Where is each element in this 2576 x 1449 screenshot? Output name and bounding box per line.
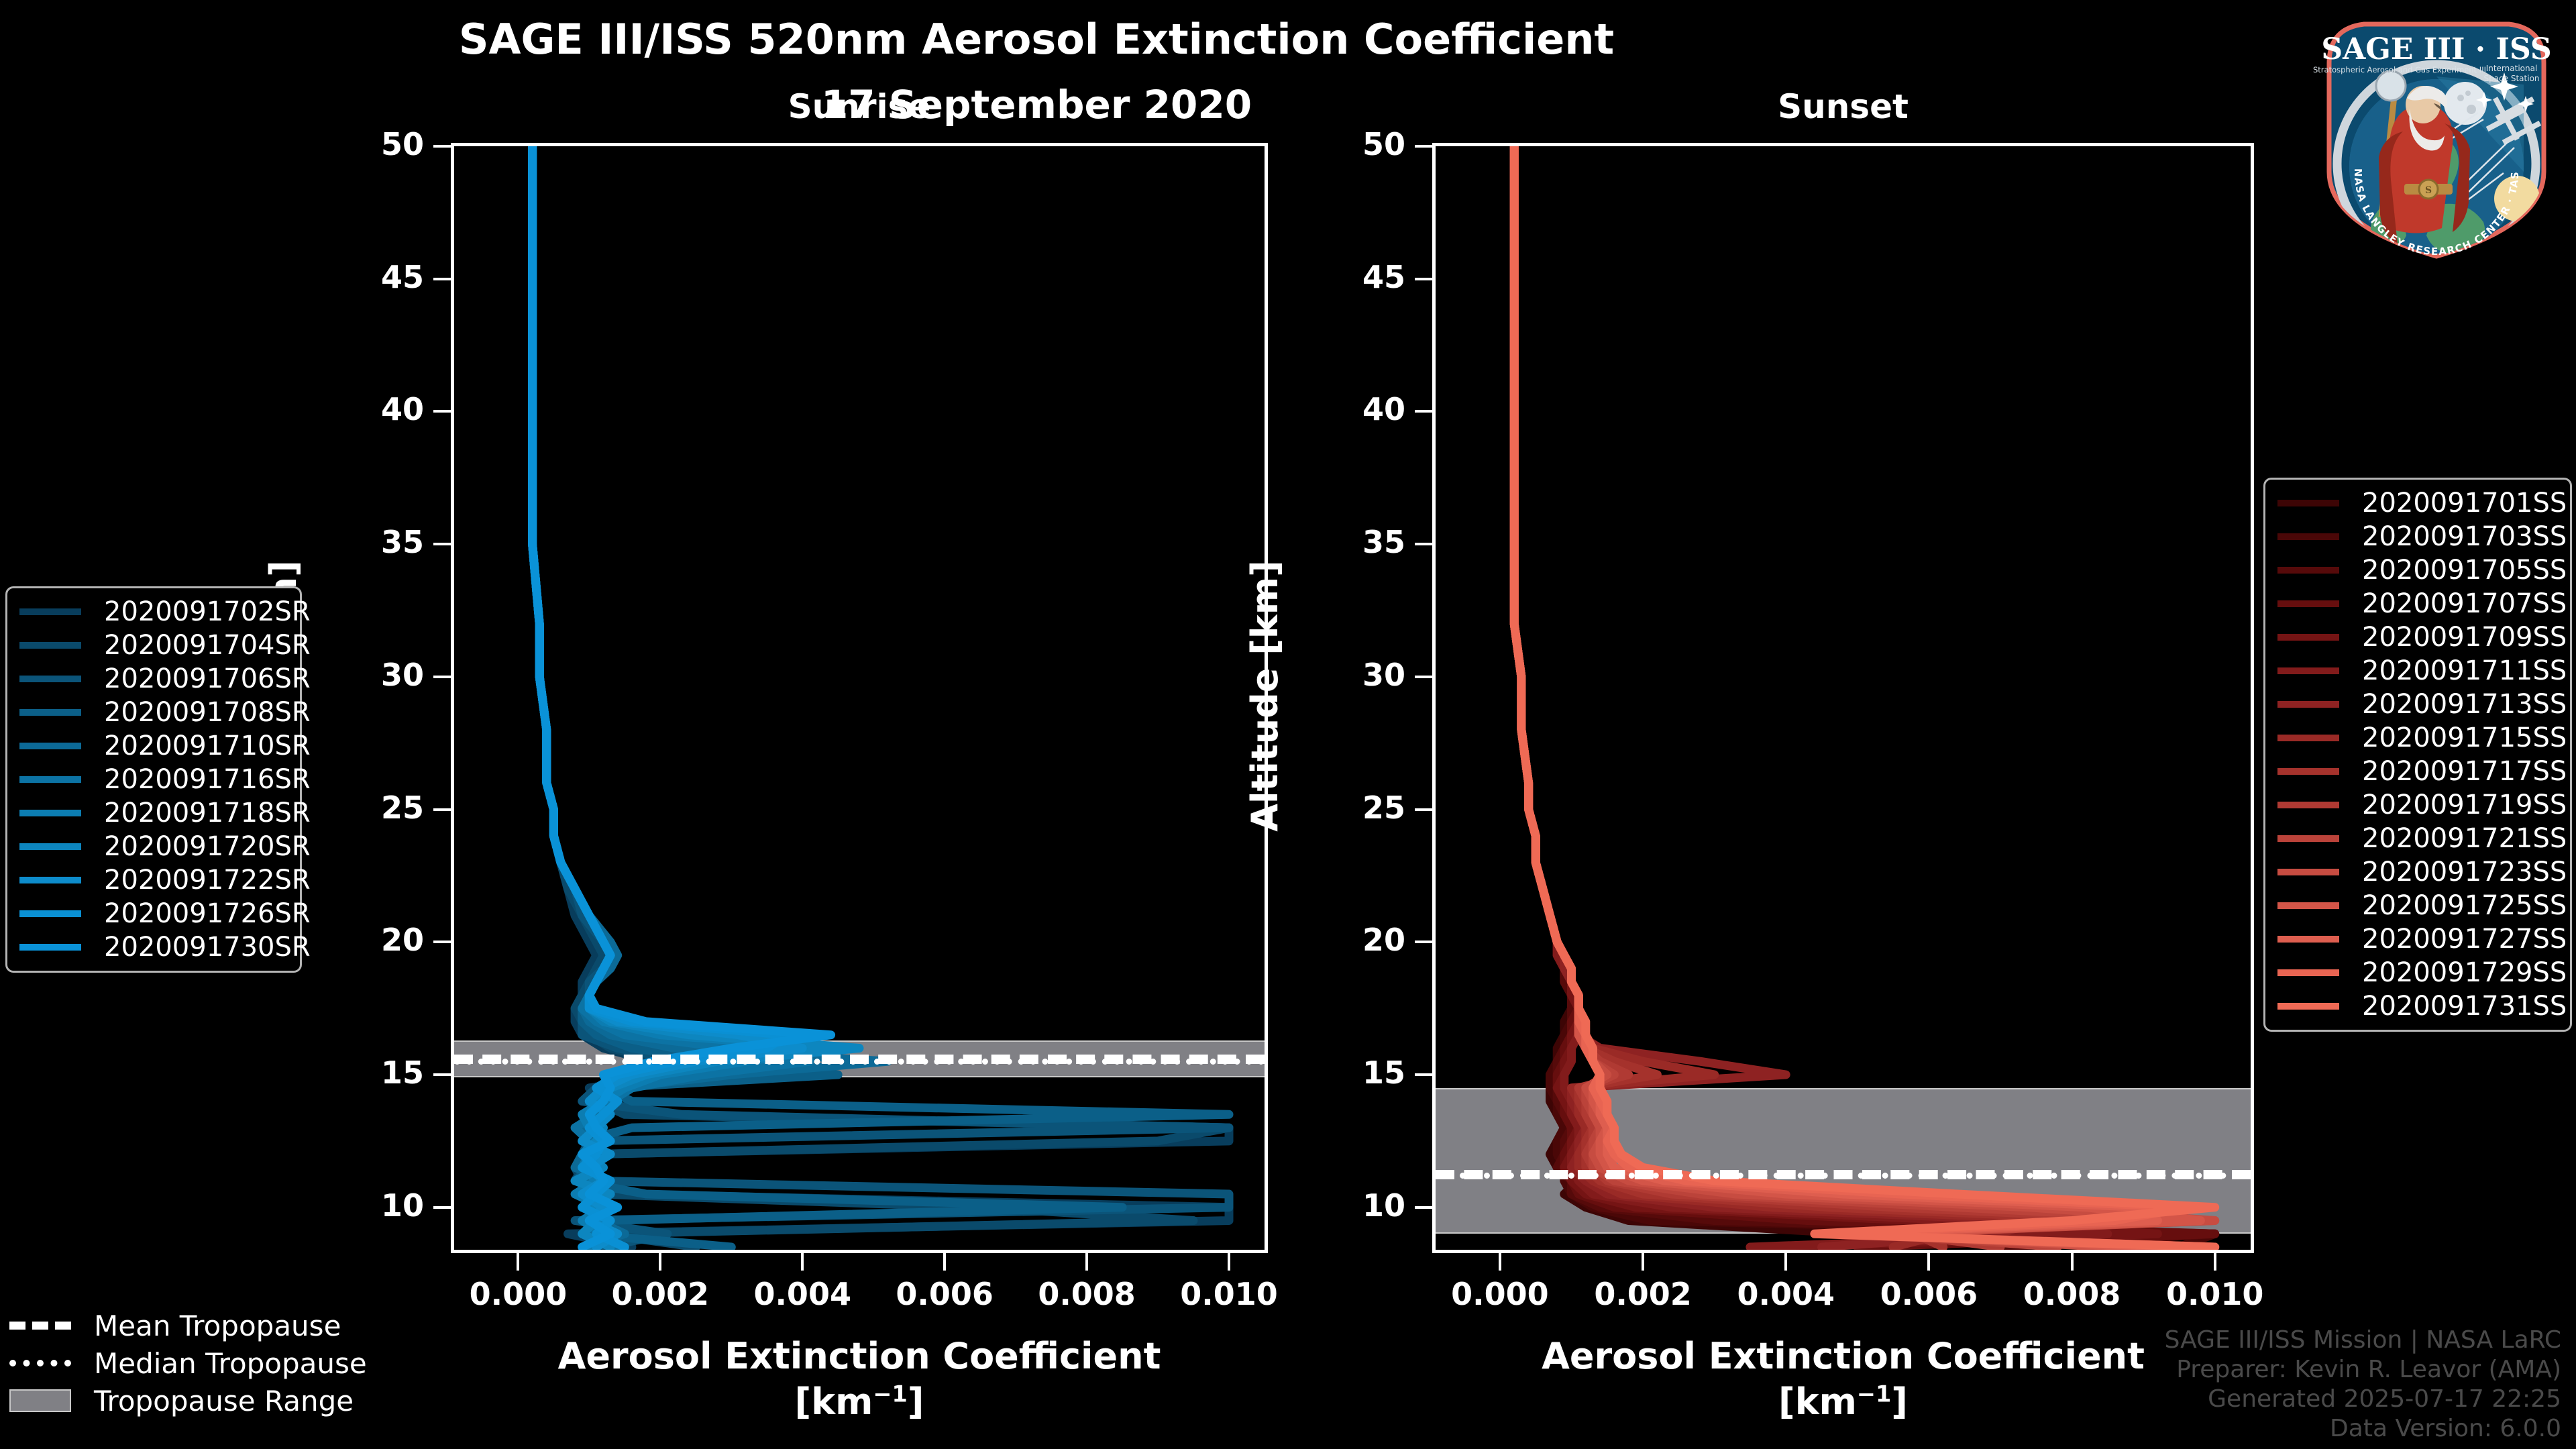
legend-item[interactable]: 2020091726SR bbox=[19, 897, 288, 930]
legend-item[interactable]: 2020091727SS bbox=[2277, 922, 2558, 956]
legend-item[interactable]: 2020091717SS bbox=[2277, 755, 2558, 788]
footer-line: Generated 2025-07-17 22:25 bbox=[2165, 1385, 2561, 1414]
tropopause-legend-label: Tropopause Range bbox=[94, 1385, 354, 1417]
legend-color-swatch bbox=[19, 776, 81, 783]
legend-color-swatch bbox=[2277, 500, 2339, 506]
legend-item-label: 2020091703SS bbox=[2362, 521, 2567, 552]
sunrise-plot-area bbox=[454, 146, 1265, 1250]
tropopause-legend-item: Median Tropopause bbox=[9, 1344, 358, 1382]
x-axis-tick bbox=[1499, 1253, 1501, 1271]
legend-item-label: 2020091727SS bbox=[2362, 924, 2567, 955]
legend-item-label: 2020091726SR bbox=[104, 898, 311, 929]
legend-item[interactable]: 2020091729SS bbox=[2277, 956, 2558, 989]
x-axis-tick bbox=[1784, 1253, 1787, 1271]
y-axis-tick bbox=[433, 941, 451, 943]
legend-color-swatch bbox=[19, 810, 81, 816]
legend-color-swatch bbox=[2277, 936, 2339, 943]
footer-line: Preparer: Kevin R. Leavor (AMA) bbox=[2165, 1355, 2561, 1385]
legend-item[interactable]: 2020091715SS bbox=[2277, 721, 2558, 755]
legend-item[interactable]: 2020091718SR bbox=[19, 796, 288, 830]
y-axis-tick bbox=[1415, 543, 1432, 545]
legend-item[interactable]: 2020091706SR bbox=[19, 662, 288, 696]
y-axis-tick bbox=[1415, 941, 1432, 943]
legend-item[interactable]: 2020091723SS bbox=[2277, 855, 2558, 889]
y-axis-tick-label: 45 bbox=[303, 259, 424, 295]
y-axis-tick bbox=[1415, 1073, 1432, 1076]
logo-station-1: International bbox=[2486, 64, 2538, 73]
legend-item[interactable]: 2020091731SS bbox=[2277, 989, 2558, 1023]
legend-item-label: 2020091721SS bbox=[2362, 823, 2567, 854]
legend-color-swatch bbox=[19, 642, 81, 649]
y-axis-tick-label: 15 bbox=[1285, 1055, 1405, 1091]
legend-color-swatch bbox=[19, 910, 81, 917]
y-axis-tick bbox=[433, 676, 451, 678]
sage-iii-iss-logo: S SAGE III · ISS Stratospheric Aerosol a… bbox=[2302, 4, 2571, 272]
legend-color-swatch bbox=[19, 877, 81, 883]
y-axis-tick-label: 25 bbox=[303, 790, 424, 826]
y-axis-tick-label: 10 bbox=[1285, 1187, 1405, 1224]
legend-item[interactable]: 2020091713SS bbox=[2277, 688, 2558, 721]
legend-item[interactable]: 2020091711SS bbox=[2277, 654, 2558, 688]
sunset-plot-panel bbox=[1432, 143, 2254, 1253]
x-axis-tick bbox=[517, 1253, 519, 1271]
y-axis-tick bbox=[433, 1206, 451, 1209]
x-axis-tick bbox=[2071, 1253, 2074, 1271]
legend-item-label: 2020091717SS bbox=[2362, 756, 2567, 787]
legend-color-swatch bbox=[2277, 567, 2339, 574]
legend-color-swatch bbox=[2277, 902, 2339, 909]
legend-color-swatch bbox=[2277, 634, 2339, 641]
legend-color-swatch bbox=[19, 743, 81, 749]
legend-color-swatch bbox=[19, 709, 81, 716]
footer-attribution: SAGE III/ISS Mission | NASA LaRCPreparer… bbox=[2165, 1326, 2561, 1444]
y-axis-tick bbox=[1415, 410, 1432, 413]
sunrise-series-group bbox=[454, 146, 1265, 1250]
sunset-legend[interactable]: 2020091701SS2020091703SS2020091705SS2020… bbox=[2263, 478, 2572, 1032]
legend-item-label: 2020091722SR bbox=[104, 865, 311, 896]
legend-item[interactable]: 2020091708SR bbox=[19, 696, 288, 729]
y-axis-tick-label: 35 bbox=[1285, 524, 1405, 560]
legend-item-label: 2020091705SS bbox=[2362, 555, 2567, 586]
legend-color-swatch bbox=[2277, 600, 2339, 607]
x-axis-tick-label: 0.010 bbox=[1142, 1276, 1316, 1312]
legend-item-label: 2020091708SR bbox=[104, 697, 311, 728]
x-axis-tick-label: 0.010 bbox=[2128, 1276, 2302, 1312]
sunrise-median-tropopause-line bbox=[454, 1059, 1265, 1065]
logo-station-2: Space Station bbox=[2483, 74, 2539, 83]
sunset-x-axis-title: Aerosol Extinction Coefficient bbox=[1432, 1335, 2254, 1377]
sunset-series-group bbox=[1436, 146, 2251, 1250]
legend-item-label: 2020091718SR bbox=[104, 798, 311, 828]
sunset-median-tropopause-line bbox=[1436, 1173, 2251, 1179]
legend-color-swatch bbox=[2277, 533, 2339, 540]
legend-color-swatch bbox=[19, 676, 81, 682]
sunset-x-axis-unit: [km−1] bbox=[1432, 1381, 2254, 1423]
legend-item[interactable]: 2020091720SR bbox=[19, 830, 288, 863]
footer-line: SAGE III/ISS Mission | NASA LaRC bbox=[2165, 1326, 2561, 1355]
y-axis-tick-label: 20 bbox=[1285, 922, 1405, 958]
legend-color-swatch bbox=[2277, 768, 2339, 775]
x-axis-tick bbox=[1228, 1253, 1230, 1271]
legend-item[interactable]: 2020091705SS bbox=[2277, 553, 2558, 587]
legend-item[interactable]: 2020091702SR bbox=[19, 595, 288, 629]
y-axis-tick-label: 45 bbox=[1285, 259, 1405, 295]
legend-item-label: 2020091715SS bbox=[2362, 722, 2567, 753]
tropopause-legend-swatch bbox=[9, 1389, 71, 1412]
y-axis-tick-label: 30 bbox=[1285, 657, 1405, 693]
legend-item[interactable]: 2020091709SS bbox=[2277, 621, 2558, 654]
x-axis-tick bbox=[1085, 1253, 1088, 1271]
y-axis-tick-label: 50 bbox=[303, 126, 424, 162]
legend-item-label: 2020091704SR bbox=[104, 630, 311, 661]
legend-item-label: 2020091702SR bbox=[104, 596, 311, 627]
x-axis-tick bbox=[2214, 1253, 2216, 1271]
x-axis-tick bbox=[1642, 1253, 1644, 1271]
y-axis-tick bbox=[1415, 145, 1432, 148]
sunrise-plot-panel bbox=[451, 143, 1268, 1253]
sunrise-x-axis-title: Aerosol Extinction Coefficient bbox=[451, 1335, 1268, 1377]
tropopause-legend: Mean TropopauseMedian TropopauseTropopau… bbox=[9, 1307, 358, 1419]
x-axis-tick bbox=[659, 1253, 661, 1271]
legend-item-label: 2020091709SS bbox=[2362, 622, 2567, 653]
y-axis-tick-label: 40 bbox=[303, 391, 424, 427]
tropopause-legend-swatch bbox=[9, 1360, 71, 1366]
y-axis-tick-label: 30 bbox=[303, 657, 424, 693]
legend-color-swatch bbox=[19, 843, 81, 850]
tropopause-legend-item: Tropopause Range bbox=[9, 1382, 358, 1419]
sunset-y-axis-title: Altitude [km] bbox=[1244, 141, 1286, 1251]
legend-item-label: 2020091725SS bbox=[2362, 890, 2567, 921]
legend-color-swatch bbox=[2277, 1003, 2339, 1010]
legend-item-label: 2020091720SR bbox=[104, 831, 311, 862]
logo-name: SAGE III · ISS bbox=[2321, 32, 2551, 66]
legend-color-swatch bbox=[2277, 735, 2339, 741]
legend-color-swatch bbox=[19, 944, 81, 951]
legend-item-label: 2020091719SS bbox=[2362, 790, 2567, 820]
y-axis-tick bbox=[433, 543, 451, 545]
legend-item[interactable]: 2020091716SR bbox=[19, 763, 288, 796]
legend-item[interactable]: 2020091707SS bbox=[2277, 587, 2558, 621]
legend-item[interactable]: 2020091704SR bbox=[19, 629, 288, 662]
legend-item[interactable]: 2020091730SR bbox=[19, 930, 288, 964]
y-axis-tick bbox=[433, 410, 451, 413]
x-axis-tick bbox=[801, 1253, 804, 1271]
legend-color-swatch bbox=[19, 608, 81, 615]
legend-color-swatch bbox=[2277, 667, 2339, 674]
legend-item-label: 2020091701SS bbox=[2362, 488, 2567, 519]
legend-color-swatch bbox=[2277, 969, 2339, 976]
legend-item[interactable]: 2020091719SS bbox=[2277, 788, 2558, 822]
legend-color-swatch bbox=[2277, 701, 2339, 708]
legend-item[interactable]: 2020091721SS bbox=[2277, 822, 2558, 855]
y-axis-tick bbox=[433, 1073, 451, 1076]
legend-item-label: 2020091711SS bbox=[2362, 655, 2567, 686]
y-axis-tick bbox=[433, 278, 451, 280]
y-axis-tick bbox=[1415, 1206, 1432, 1209]
y-axis-tick-label: 15 bbox=[303, 1055, 424, 1091]
legend-item[interactable]: 2020091722SR bbox=[19, 863, 288, 897]
y-axis-tick-label: 50 bbox=[1285, 126, 1405, 162]
legend-item-label: 2020091716SR bbox=[104, 764, 311, 795]
legend-item-label: 2020091710SR bbox=[104, 731, 311, 761]
legend-item[interactable]: 2020091725SS bbox=[2277, 889, 2558, 922]
svg-text:S: S bbox=[2425, 185, 2432, 196]
x-axis-tick bbox=[1927, 1253, 1930, 1271]
x-axis-tick bbox=[943, 1253, 946, 1271]
y-axis-tick-label: 40 bbox=[1285, 391, 1405, 427]
legend-color-swatch bbox=[2277, 835, 2339, 842]
y-axis-tick bbox=[1415, 278, 1432, 280]
legend-item-label: 2020091723SS bbox=[2362, 857, 2567, 888]
sunset-plot-area bbox=[1436, 146, 2251, 1250]
legend-item-label: 2020091731SS bbox=[2362, 991, 2567, 1022]
tropopause-legend-swatch bbox=[9, 1322, 71, 1330]
legend-item-label: 2020091707SS bbox=[2362, 588, 2567, 619]
footer-line: Data Version: 6.0.0 bbox=[2165, 1414, 2561, 1444]
y-axis-tick bbox=[433, 145, 451, 148]
sunrise-panel-label: Sunrise bbox=[451, 87, 1268, 126]
legend-item[interactable]: 2020091703SS bbox=[2277, 520, 2558, 553]
legend-color-swatch bbox=[2277, 802, 2339, 808]
legend-item-label: 2020091730SR bbox=[104, 932, 311, 963]
y-axis-tick-label: 10 bbox=[303, 1187, 424, 1224]
legend-item-label: 2020091706SR bbox=[104, 663, 311, 694]
y-axis-tick bbox=[433, 808, 451, 811]
page-title: SAGE III/ISS 520nm Aerosol Extinction Co… bbox=[0, 15, 2073, 64]
legend-item-label: 2020091729SS bbox=[2362, 957, 2567, 988]
sunset-panel-label: Sunset bbox=[1432, 87, 2254, 126]
sunrise-x-axis-unit: [km−1] bbox=[451, 1381, 1268, 1423]
y-axis-tick-label: 25 bbox=[1285, 790, 1405, 826]
sunrise-legend[interactable]: 2020091702SR2020091704SR2020091706SR2020… bbox=[5, 586, 302, 973]
legend-item-label: 2020091713SS bbox=[2362, 689, 2567, 720]
tropopause-legend-label: Median Tropopause bbox=[94, 1347, 367, 1380]
legend-color-swatch bbox=[2277, 869, 2339, 875]
y-axis-tick bbox=[1415, 676, 1432, 678]
series-line bbox=[1514, 146, 2179, 1247]
legend-item[interactable]: 2020091710SR bbox=[19, 729, 288, 763]
tropopause-legend-item: Mean Tropopause bbox=[9, 1307, 358, 1344]
y-axis-tick-label: 35 bbox=[303, 524, 424, 560]
figure-root: SAGE III/ISS 520nm Aerosol Extinction Co… bbox=[0, 0, 2576, 1449]
tropopause-legend-label: Mean Tropopause bbox=[94, 1309, 341, 1342]
logo-tagline: Stratospheric Aerosol and Gas Experiment… bbox=[2313, 65, 2486, 74]
y-axis-tick bbox=[1415, 808, 1432, 811]
y-axis-tick-label: 20 bbox=[303, 922, 424, 958]
legend-item[interactable]: 2020091701SS bbox=[2277, 486, 2558, 520]
